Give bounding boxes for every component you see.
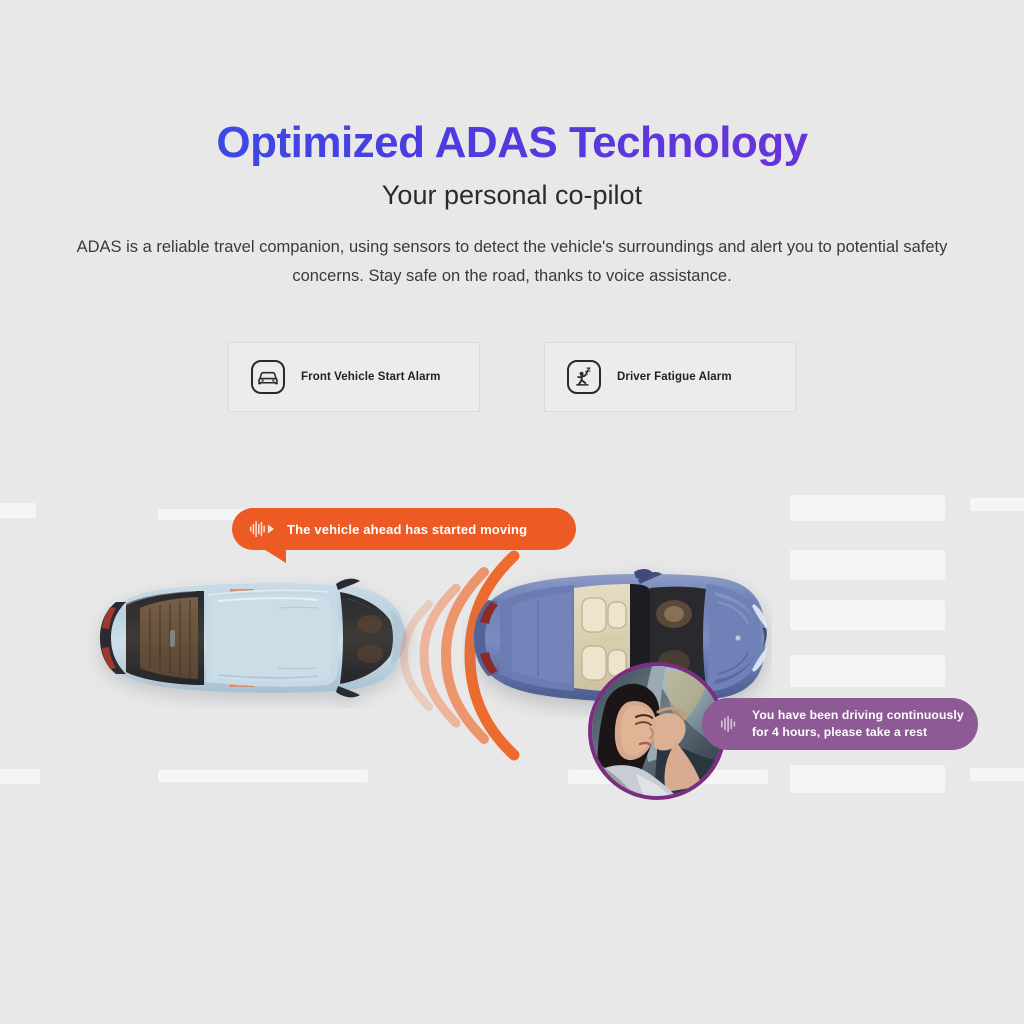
feature-card-front-vehicle-start-alarm[interactable]: Front Vehicle Start Alarm xyxy=(228,342,480,412)
feature-card-label: Front Vehicle Start Alarm xyxy=(301,371,440,383)
sleepy-driver-icon xyxy=(567,360,601,394)
front-vehicle-alert-bubble[interactable]: The vehicle ahead has started moving xyxy=(232,508,576,550)
road-dash xyxy=(158,770,368,782)
road-dash xyxy=(970,498,1024,511)
front-vehicle-alert-text: The vehicle ahead has started moving xyxy=(287,522,527,537)
feature-card-driver-fatigue-alarm[interactable]: Driver Fatigue Alarm xyxy=(544,342,796,412)
road-dash xyxy=(790,600,945,630)
road-dash xyxy=(790,765,945,793)
bubble-tail xyxy=(254,548,286,563)
lead-vehicle xyxy=(78,568,418,708)
fatigue-alert-line1: You have been driving continuously xyxy=(752,708,964,722)
road-dash xyxy=(790,495,945,521)
page-title: Optimized ADAS Technology xyxy=(0,118,1024,168)
page-description: ADAS is a reliable travel companion, usi… xyxy=(62,233,962,291)
voice-waveform-icon xyxy=(248,520,275,538)
road-dash xyxy=(0,503,36,518)
adas-promo-page: Optimized ADAS Technology Your personal … xyxy=(0,0,1024,1024)
fatigue-alert-line2: for 4 hours, please take a rest xyxy=(752,725,927,739)
road-dash xyxy=(0,769,40,784)
car-front-icon xyxy=(251,360,285,394)
feature-card-list: Front Vehicle Start Alarm Driver Fatigue… xyxy=(0,342,1024,412)
road-dash xyxy=(790,550,945,580)
road-dash xyxy=(970,768,1024,781)
fatigue-alert-text: You have been driving continuously for 4… xyxy=(752,707,964,741)
feature-card-label: Driver Fatigue Alarm xyxy=(617,371,732,383)
road-dash xyxy=(790,655,945,687)
voice-waveform-icon xyxy=(718,715,740,733)
fatigue-alert-bubble[interactable]: You have been driving continuously for 4… xyxy=(702,698,978,750)
page-subtitle: Your personal co-pilot xyxy=(0,180,1024,211)
